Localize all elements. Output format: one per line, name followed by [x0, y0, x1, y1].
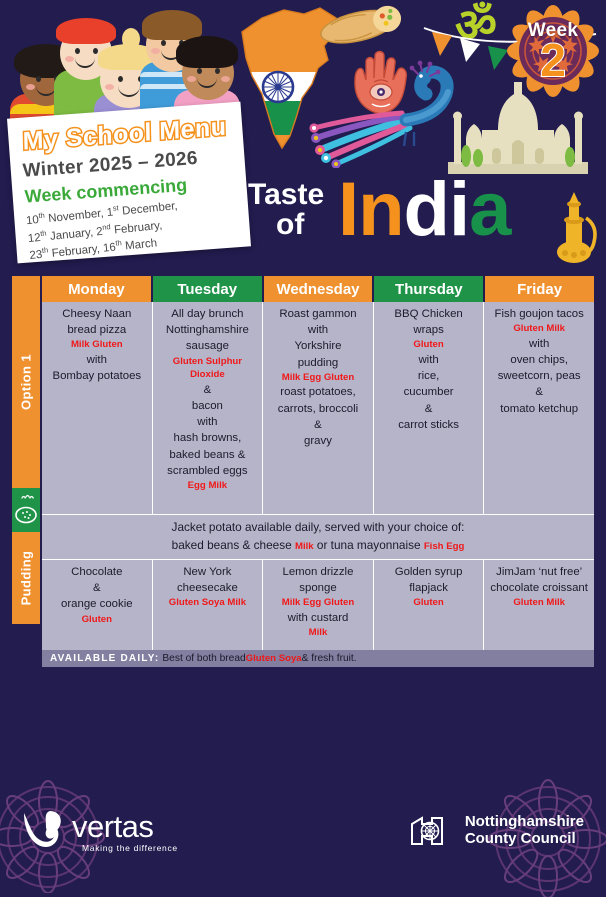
menu-item-line: New York [156, 564, 260, 580]
menu-item-line: flapjack [377, 580, 481, 596]
pudding-cell-tuesday: New YorkcheesecakeGluten Soya Milk [153, 560, 264, 652]
vertas-tagline: Making the difference [82, 843, 178, 853]
menu-item-line: & [45, 580, 149, 596]
available-daily-allergen: Gluten Soya [246, 653, 302, 664]
allergen-tag: Gluten [377, 338, 481, 352]
menu-item-line: with [266, 322, 370, 338]
option1-cell-wednesday: Roast gammonwithYorkshirepuddingMilk Egg… [263, 302, 374, 514]
option1-cell-tuesday: All day brunchNottinghamshiresausageGlut… [153, 302, 264, 514]
menu-item-line: JimJam ‘nut free’ [487, 564, 591, 580]
option1-cell-friday: Fish goujon tacosGluten Milkwithoven chi… [484, 302, 594, 514]
allergen-tag: Gluten Sulphur [156, 355, 260, 369]
allergen-tag: Gluten Milk [487, 322, 591, 336]
footer: vertas Making the difference Nottinghams… [0, 785, 606, 877]
allergen-tag: Milk Gluten [45, 338, 149, 352]
allergen-tag: Gluten Milk [487, 596, 591, 610]
menu-item-line: with [45, 352, 149, 368]
pudding-cell-thursday: Golden syrupflapjackGluten [374, 560, 485, 652]
menu-item-line: rice, [377, 368, 481, 384]
option1-cell-thursday: BBQ ChickenwrapsGlutenwithrice,cucumber&… [374, 302, 485, 514]
menu-item-line: wraps [377, 322, 481, 338]
menu-item-line: Yorkshire [266, 338, 370, 354]
jacket-potato-side-icon [12, 488, 40, 532]
menu-item-line: sausage [156, 338, 260, 354]
menu-grid: MondayTuesdayWednesdayThursdayFriday Che… [42, 276, 594, 652]
menu-item-line: & [156, 382, 260, 398]
menu-item-line: with [156, 414, 260, 430]
menu-item-line: Fish goujon tacos [487, 306, 591, 322]
title-india-part-3: a [469, 167, 510, 252]
menu-item-line: scrambled eggs [156, 463, 260, 479]
table-side-labels: Option 1 Pudding [12, 276, 40, 624]
title-india-part-1: In [338, 167, 404, 252]
council-name: Nottinghamshire County Council [465, 814, 584, 848]
jacket-line-1: Jacket potato available daily, served wi… [172, 519, 465, 537]
menu-item-line: carrot sticks [377, 417, 481, 433]
menu-item-line: hash browns, [156, 430, 260, 446]
week-number: 2 [506, 37, 600, 83]
day-header-tuesday: Tuesday [153, 276, 264, 302]
menu-item-line: sweetcorn, peas [487, 368, 591, 384]
allergen-tag: Gluten Soya Milk [156, 596, 260, 610]
menu-item-line: bread pizza [45, 322, 149, 338]
vertas-bird-icon [20, 807, 70, 853]
available-daily-text-b: & fresh fruit. [302, 653, 357, 664]
allergen-tag: Milk Egg Gluten [266, 371, 370, 385]
pudding-row: Chocolate&orange cookieGlutenNew Yorkche… [42, 560, 594, 652]
option1-side-label: Option 1 [12, 276, 40, 488]
menu-item-line: & [266, 417, 370, 433]
menu-item-line: Lemon drizzle [266, 564, 370, 580]
allergen-tag: Egg Milk [156, 479, 260, 493]
menu-item-line: Nottinghamshire [156, 322, 260, 338]
pudding-cell-friday: JimJam ‘nut free’chocolate croissantGlut… [484, 560, 594, 652]
jacket-allergen-2: Fish Egg [424, 541, 465, 552]
allergen-tag: Gluten [377, 596, 481, 610]
menu-item-line: tomato ketchup [487, 401, 591, 417]
menu-item-line: Roast gammon [266, 306, 370, 322]
available-daily-bar: AVAILABLE DAILY: Best of both bread Glut… [42, 650, 594, 667]
council-name-line-1: Nottinghamshire [465, 814, 584, 831]
menu-item-line: All day brunch [156, 306, 260, 322]
poster-title: Taste of India [248, 176, 606, 264]
menu-item-line: sponge [266, 580, 370, 596]
menu-item-line: orange cookie [45, 596, 149, 612]
allergen-tag: Gluten [45, 613, 149, 627]
menu-item-line: roast potatoes, [266, 384, 370, 400]
allergen-tag: Milk Egg Gluten [266, 596, 370, 610]
hero-banner: ॐ [0, 0, 606, 272]
menu-item-line: Golden syrup [377, 564, 481, 580]
day-header-monday: Monday [42, 276, 153, 302]
menu-item-line: Bombay potatoes [45, 368, 149, 384]
pudding-cell-wednesday: Lemon drizzlespongeMilk Egg Glutenwith c… [263, 560, 374, 652]
menu-item-line: cheesecake [156, 580, 260, 596]
option1-row: Cheesy Naanbread pizzaMilk GlutenwithBom… [42, 302, 594, 514]
day-header-friday: Friday [485, 276, 594, 302]
menu-item-line: bacon [156, 398, 260, 414]
week-number-badge: Week 2 [506, 4, 600, 98]
nottinghamshire-county-council-logo: Nottinghamshire County Council [410, 809, 584, 853]
vertas-logo: vertas Making the difference [20, 805, 180, 855]
menu-item-line: with custard [266, 610, 370, 626]
menu-item-line: BBQ Chicken [377, 306, 481, 322]
day-header-thursday: Thursday [374, 276, 485, 302]
day-header-wednesday: Wednesday [264, 276, 375, 302]
menu-item-line: baked beans & [156, 447, 260, 463]
menu-item-line: & [487, 384, 591, 400]
jacket-text-a: baked beans & cheese [172, 538, 295, 552]
council-crest-icon [410, 814, 456, 848]
menu-item-line: with [377, 352, 481, 368]
menu-item-line: Chocolate [45, 564, 149, 580]
title-india: India [338, 172, 510, 248]
jacket-line-2: baked beans & cheese Milk or tuna mayonn… [172, 537, 465, 555]
pudding-side-label: Pudding [12, 532, 40, 624]
pudding-cell-monday: Chocolate&orange cookieGluten [42, 560, 153, 652]
allergen-tag: Milk [266, 626, 370, 640]
menu-item-line: cucumber [377, 384, 481, 400]
allergen-tag: Dioxide [156, 368, 260, 382]
council-name-line-2: County Council [465, 831, 584, 848]
jacket-potato-band: Jacket potato available daily, served wi… [42, 514, 594, 560]
jacket-allergen-1: Milk [295, 541, 314, 552]
day-header-row: MondayTuesdayWednesdayThursdayFriday [42, 276, 594, 302]
option1-label-text: Option 1 [19, 354, 34, 410]
title-of: of [276, 210, 304, 240]
title-taste: Taste [248, 180, 324, 210]
available-daily-label: AVAILABLE DAILY: [50, 653, 159, 664]
menu-item-line: pudding [266, 355, 370, 371]
menu-item-line: carrots, broccoli [266, 401, 370, 417]
pudding-label-text: Pudding [19, 551, 34, 606]
menu-item-line: Cheesy Naan [45, 306, 149, 322]
menu-info-card: My School Menu Winter 2025 – 2026 Week c… [7, 102, 251, 264]
menu-item-line: oven chips, [487, 352, 591, 368]
option1-cell-monday: Cheesy Naanbread pizzaMilk GlutenwithBom… [42, 302, 153, 514]
jacket-text-b: or tuna mayonnaise [314, 538, 424, 552]
available-daily-text-a: Best of both bread [162, 653, 245, 664]
menu-item-line: & [377, 401, 481, 417]
vertas-name: vertas [72, 811, 153, 842]
menu-item-line: chocolate croissant [487, 580, 591, 596]
menu-item-line: with [487, 336, 591, 352]
title-india-part-2: di [404, 167, 470, 252]
menu-item-line: gravy [266, 433, 370, 449]
